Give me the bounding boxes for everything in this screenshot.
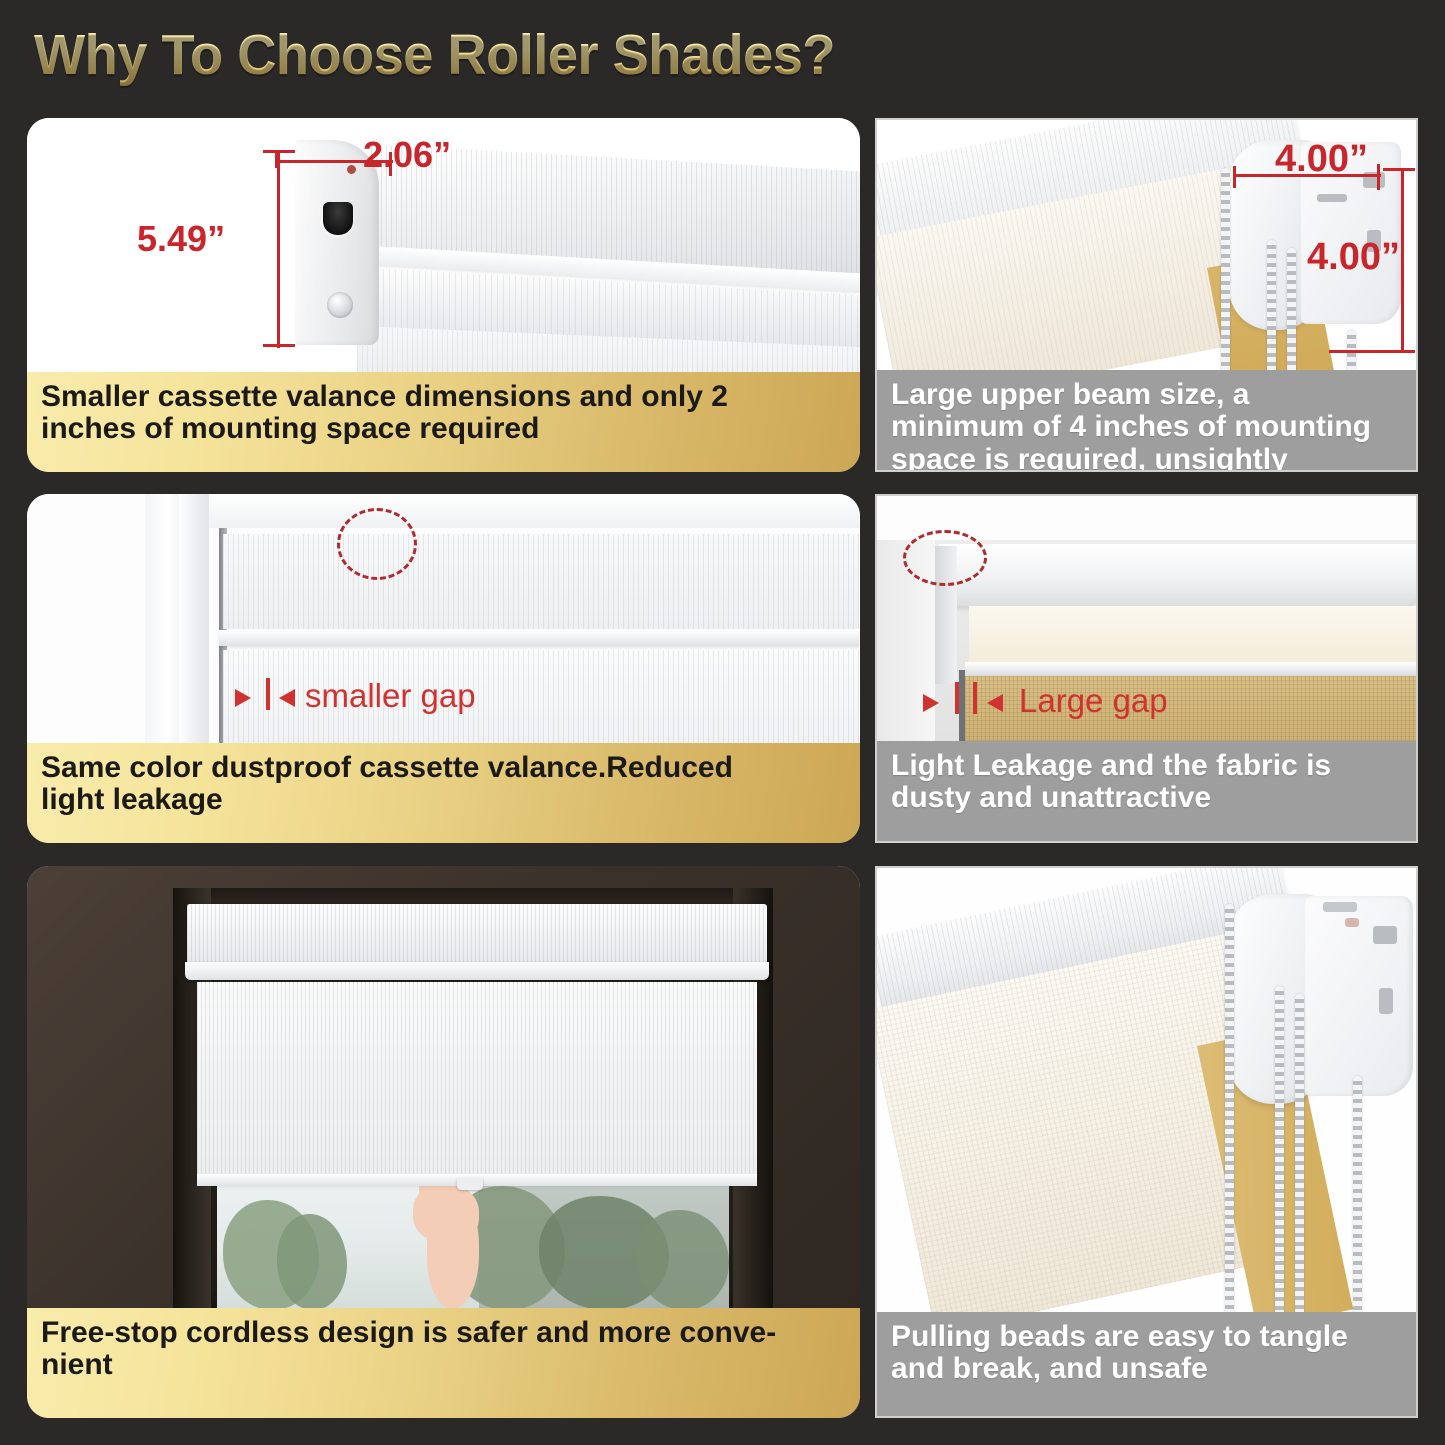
roller-tube-shape (939, 544, 1417, 606)
product-photo-bead-chain (877, 868, 1416, 1316)
window-sill-shape (145, 494, 183, 743)
caption-pro-light-leakage: Same color dustproof cassette valance.Re… (27, 743, 860, 843)
page-title: Why To Choose Roller Shades? (34, 22, 835, 88)
caption-line-1: Large upper beam size, a (891, 379, 1402, 411)
beam-height-tick-bottom (1329, 350, 1415, 353)
gap-arrow-left-icon (923, 694, 939, 712)
highlight-circle-icon (337, 508, 417, 580)
bracket-screw-shape (327, 292, 353, 318)
gap-callout-label: Large gap (1019, 682, 1168, 720)
panel-con-light-leakage: Large gap Light Leakage and the fabric i… (875, 494, 1418, 843)
caption-line-1: Free-stop cordless design is safer and m… (41, 1317, 846, 1349)
caption-con-light-leakage: Light Leakage and the fabric is dusty an… (877, 741, 1416, 841)
cream-fabric-shape (969, 606, 1417, 664)
product-photo-large-gap: Large gap (877, 496, 1416, 745)
highlight-circle-icon (903, 530, 987, 586)
bracket-slot-shape (323, 202, 353, 235)
caption-line-1: Smaller cassette valance dimensions and … (41, 381, 846, 413)
shade-pull-tab (457, 1178, 483, 1190)
cassette-valance-shape (187, 904, 767, 964)
caption-pro-cordless: Free-stop cordless design is safer and m… (27, 1308, 860, 1418)
panel-pro-cordless: Free-stop cordless design is safer and m… (27, 866, 860, 1418)
height-dim-tick-bottom (263, 344, 295, 347)
plate-notch-2 (1379, 988, 1393, 1014)
caption-line-2: inches of mounting space required (41, 413, 846, 445)
bottom-bar-shape (965, 662, 1417, 676)
shade-upper-panel (223, 534, 859, 629)
window-frame-left (179, 494, 209, 743)
shade-middle-rail (219, 630, 859, 646)
bead-chain-2 (1267, 240, 1276, 378)
product-photo-smaller-gap: smaller gap (27, 494, 860, 743)
plate-notch-1 (1373, 926, 1397, 944)
beam-width-tick-right (1377, 164, 1380, 190)
bead-chain-3 (1295, 994, 1304, 1316)
window-frame-top (179, 494, 859, 528)
caption-line-1: Light Leakage and the fabric is (891, 750, 1402, 782)
width-dimension-label: 2.06” (363, 134, 451, 176)
gap-marker-line-1 (955, 682, 959, 714)
caption-line-2: light leakage (41, 784, 846, 816)
bead-chain-1 (1225, 904, 1234, 1316)
bead-chain-1 (1221, 168, 1230, 378)
height-dim-line (277, 152, 280, 348)
bead-chain-2 (1275, 986, 1284, 1316)
caption-con-beads: Pulling beads are easy to tangle and bre… (877, 1312, 1416, 1416)
beam-height-label: 4.00” (1307, 236, 1400, 279)
mounting-plate-shape (1305, 896, 1413, 1096)
height-dim-tick-top (263, 150, 295, 153)
plate-notch-3 (1317, 194, 1347, 202)
beam-height-line (1401, 168, 1404, 352)
caption-line-2: minimum of 4 inches of mounting (891, 411, 1402, 443)
panel-con-beam-size: 4.00” 4.00” Large upper beam size, a min… (875, 118, 1418, 472)
height-dimension-label: 5.49” (137, 218, 225, 260)
panel-pro-light-leakage: smaller gap Same color dustproof cassett… (27, 494, 860, 843)
gap-arrow-right-icon (279, 689, 295, 707)
gap-arrow-right-icon (987, 694, 1003, 712)
panel-pro-cassette-size: 2.06” 5.49” Smaller cassette valance dim… (27, 118, 860, 472)
caption-line-3: space is required, unsightly (891, 444, 1402, 472)
gap-marker-line-2 (973, 682, 977, 714)
valance-lip-shape (185, 962, 769, 980)
beam-width-tick-left (1233, 166, 1236, 188)
caption-line-1: Same color dustproof cassette valance.Re… (41, 752, 846, 784)
caption-line-2: and break, and unsafe (891, 1353, 1402, 1385)
caption-line-1: Pulling beads are easy to tangle (891, 1321, 1402, 1353)
product-photo-cordless-window (27, 866, 860, 1308)
plate-notch-4 (1345, 918, 1359, 927)
caption-con-beam-size: Large upper beam size, a minimum of 4 in… (877, 370, 1416, 470)
plate-notch-3 (1323, 902, 1357, 912)
caption-pro-cassette-size: Smaller cassette valance dimensions and … (27, 372, 860, 472)
bead-chain-3 (1287, 248, 1296, 378)
gap-marker-line (266, 678, 270, 710)
bracket-pin-shape (347, 165, 356, 174)
product-photo-cassette-valance: 2.06” 5.49” (27, 118, 860, 372)
beam-height-tick-top (1383, 168, 1415, 171)
product-photo-large-beam: 4.00” 4.00” (877, 120, 1416, 370)
caption-line-2: dusty and unattractive (891, 782, 1402, 814)
bead-chain-4 (1353, 1076, 1362, 1316)
tree-shape-2 (277, 1214, 347, 1310)
gap-callout-label: smaller gap (305, 677, 476, 715)
caption-line-2: nient (41, 1349, 846, 1381)
panel-con-beads: Pulling beads are easy to tangle and bre… (875, 866, 1418, 1418)
gap-shadow-line (959, 670, 965, 745)
gap-arrow-left-icon (235, 689, 251, 707)
shade-fabric-panel (197, 982, 757, 1178)
title-bar: Why To Choose Roller Shades? (0, 0, 1445, 112)
beam-width-label: 4.00” (1275, 138, 1368, 181)
